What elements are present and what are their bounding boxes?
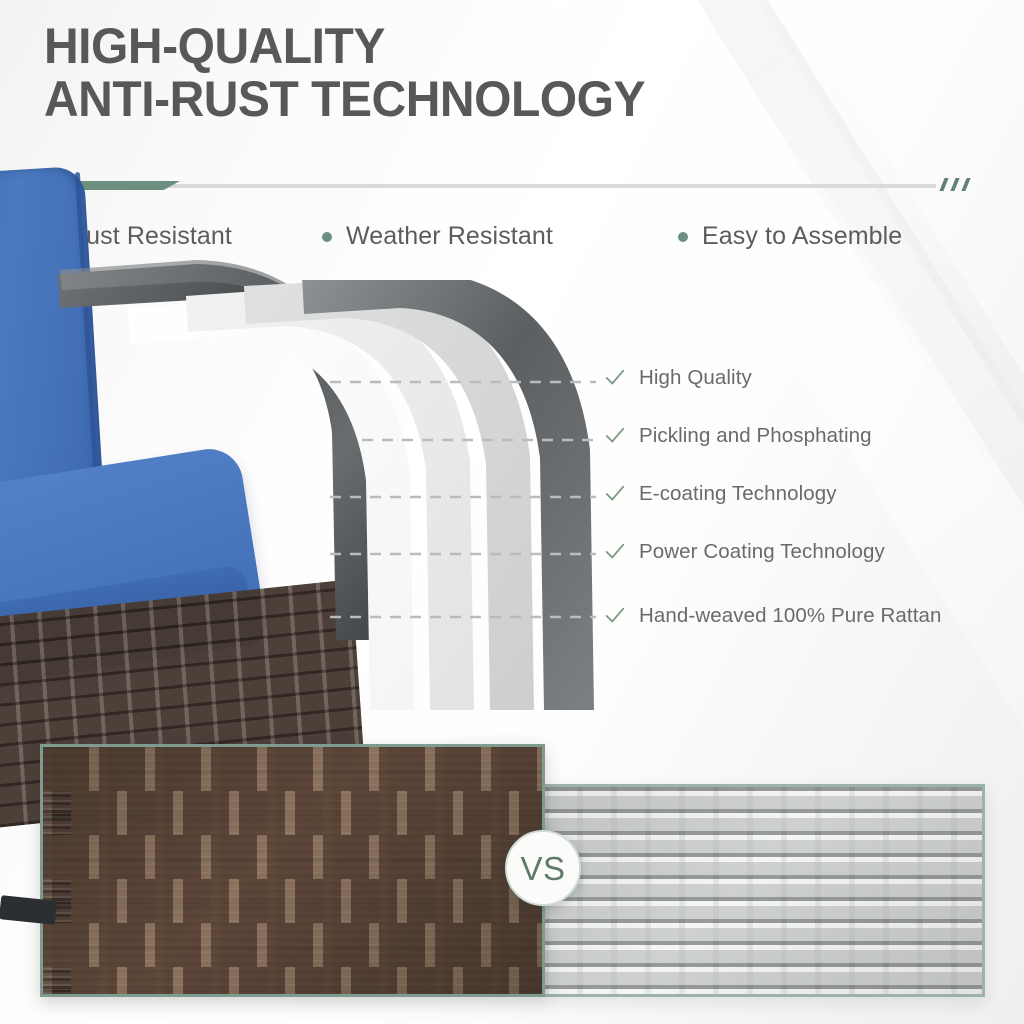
check-mark-icon [604,541,626,563]
check-mark-icon [604,367,626,389]
feature-row-e-coating: E-coating Technology [604,482,837,506]
feature-row-power-coating: Power Coating Technology [604,540,885,564]
feature-label: High Quality [639,366,752,390]
check-mark-icon [604,605,626,627]
comparison-panel-gray-rattan [540,784,985,997]
feature-row-pickling-phosphating: Pickling and Phosphating [604,424,872,448]
infographic-canvas: HIGH-QUALITY ANTI-RUST TECHNOLOGY Rust R… [0,0,1024,1024]
feature-row-hand-weaved-rattan: Hand-weaved 100% Pure Rattan [604,604,942,628]
check-mark-icon [604,483,626,505]
vs-badge: VS [505,830,581,906]
feature-label: Power Coating Technology [639,540,885,564]
check-mark-icon [604,425,626,447]
comparison-panel-brown-rattan [40,744,545,997]
panel-shading [543,787,982,994]
vs-label: VS [520,852,565,885]
feature-label: E-coating Technology [639,482,837,506]
feature-label: Hand-weaved 100% Pure Rattan [639,604,942,628]
feature-label: Pickling and Phosphating [639,424,872,448]
feature-row-high-quality: High Quality [604,366,752,390]
